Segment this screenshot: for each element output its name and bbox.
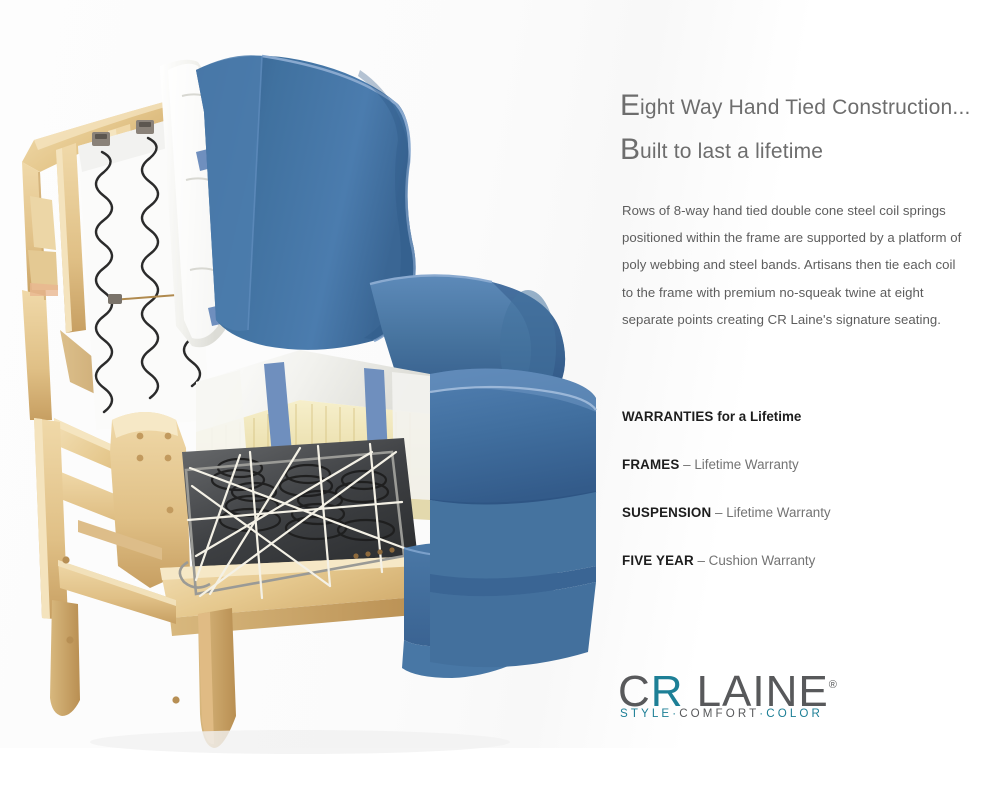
seat-front-block bbox=[430, 492, 596, 667]
tagline-comfort: COMFORT bbox=[679, 707, 759, 720]
page-title: Eight Way Hand Tied Construction... Buil… bbox=[620, 86, 990, 174]
warranty-value-frames: – Lifetime Warranty bbox=[679, 457, 798, 472]
cr-laine-logo: CRLAINE® STYLE·COMFORT·COLOR bbox=[618, 664, 848, 730]
registered-trademark-icon: ® bbox=[829, 679, 837, 691]
warranty-row-five-year: FIVE YEAR – Cushion Warranty bbox=[622, 553, 982, 601]
warranty-term-suspension: SUSPENSION bbox=[622, 505, 711, 520]
warranty-row-frames: FRAMES – Lifetime Warranty bbox=[622, 457, 982, 505]
body-paragraph: Rows of 8-way hand tied double cone stee… bbox=[622, 197, 962, 333]
chair-base-frame bbox=[34, 412, 428, 748]
logo-tagline: STYLE·COMFORT·COLOR bbox=[620, 707, 823, 720]
body-copy: Rows of 8-way hand tied double cone stee… bbox=[622, 197, 962, 333]
warranty-heading-rest: for a Lifetime bbox=[714, 409, 802, 424]
headline-line-1-rest: ight Way Hand Tied Construction... bbox=[640, 96, 971, 119]
chair-cutaway-photo bbox=[0, 0, 620, 780]
warranty-term-frames: FRAMES bbox=[622, 457, 679, 472]
tagline-style: STYLE bbox=[620, 707, 672, 720]
headline-line-1: Eight Way Hand Tied Construction... bbox=[620, 86, 990, 130]
warranty-heading-bold: WARRANTIES bbox=[622, 409, 714, 424]
warranty-heading: WARRANTIES for a Lifetime bbox=[622, 409, 982, 457]
headline-dropcap-b: B bbox=[620, 133, 640, 166]
warranty-value-suspension: – Lifetime Warranty bbox=[711, 505, 830, 520]
headline-dropcap-e: E bbox=[620, 89, 640, 122]
warranty-value-five-year: – Cushion Warranty bbox=[694, 553, 816, 568]
headline-line-2-rest: uilt to last a lifetime bbox=[640, 140, 823, 163]
headline-line-2: Built to last a lifetime bbox=[620, 130, 990, 174]
warranty-list: WARRANTIES for a Lifetime FRAMES – Lifet… bbox=[622, 409, 982, 601]
warranty-row-suspension: SUSPENSION – Lifetime Warranty bbox=[622, 505, 982, 553]
promo-page: Eight Way Hand Tied Construction... Buil… bbox=[0, 0, 1000, 800]
seat-cushion-upholstery bbox=[430, 368, 596, 508]
warranty-term-five-year: FIVE YEAR bbox=[622, 553, 694, 568]
tagline-color: COLOR bbox=[766, 707, 823, 720]
logo-wordmark: CRLAINE® bbox=[618, 664, 848, 706]
